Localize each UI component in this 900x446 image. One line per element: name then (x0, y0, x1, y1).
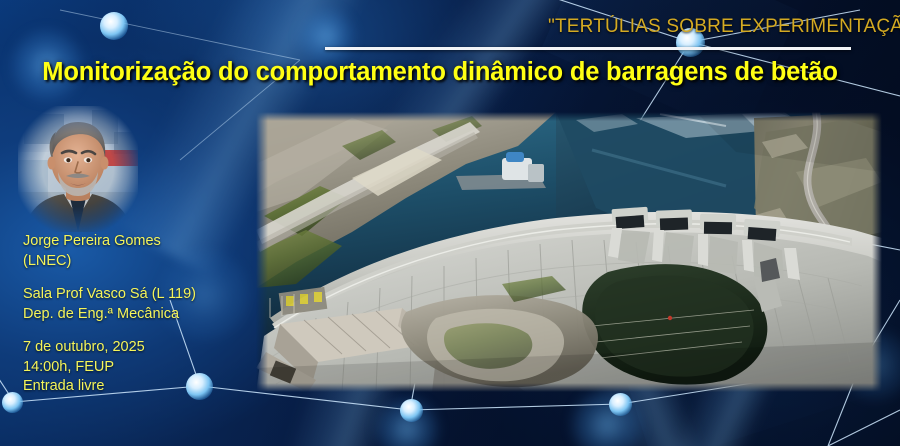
background-glow (572, 390, 642, 446)
speaker-portrait (18, 106, 138, 232)
event-admission: Entrada livre (23, 377, 253, 397)
event-poster: "TERTÚLIAS SOBRE EXPERIMENTAÇÃO" Monitor… (0, 0, 900, 446)
dam-photo (256, 112, 882, 392)
network-node (609, 393, 632, 416)
speaker-info: Jorge Pereira Gomes (LNEC) (23, 232, 253, 271)
speaker-name: Jorge Pereira Gomes (23, 232, 253, 252)
venue-room: Sala Prof Vasco Sá (L 119) (23, 285, 253, 305)
poster-info: Jorge Pereira Gomes (LNEC) Sala Prof Vas… (23, 232, 253, 397)
dam-photo-image (256, 112, 882, 392)
background-glow (376, 398, 438, 446)
schedule-info: 7 de outubro, 2025 14:00h, FEUP Entrada … (23, 338, 253, 397)
poster-title: Monitorização do comportamento dinâmico … (0, 58, 900, 87)
venue-department: Dep. de Eng.ª Mecânica (23, 305, 253, 325)
poster-kicker: "TERTÚLIAS SOBRE EXPERIMENTAÇÃO" (548, 16, 900, 38)
event-date: 7 de outubro, 2025 (23, 338, 253, 358)
background-glow (300, 10, 354, 64)
portrait-image (18, 106, 138, 232)
venue-info: Sala Prof Vasco Sá (L 119) Dep. de Eng.ª… (23, 285, 253, 324)
network-node (400, 399, 423, 422)
network-node (2, 392, 23, 413)
header-divider (325, 47, 851, 50)
speaker-affiliation: (LNEC) (23, 252, 253, 272)
event-time: 14:00h, FEUP (23, 358, 253, 378)
network-node (100, 12, 128, 40)
